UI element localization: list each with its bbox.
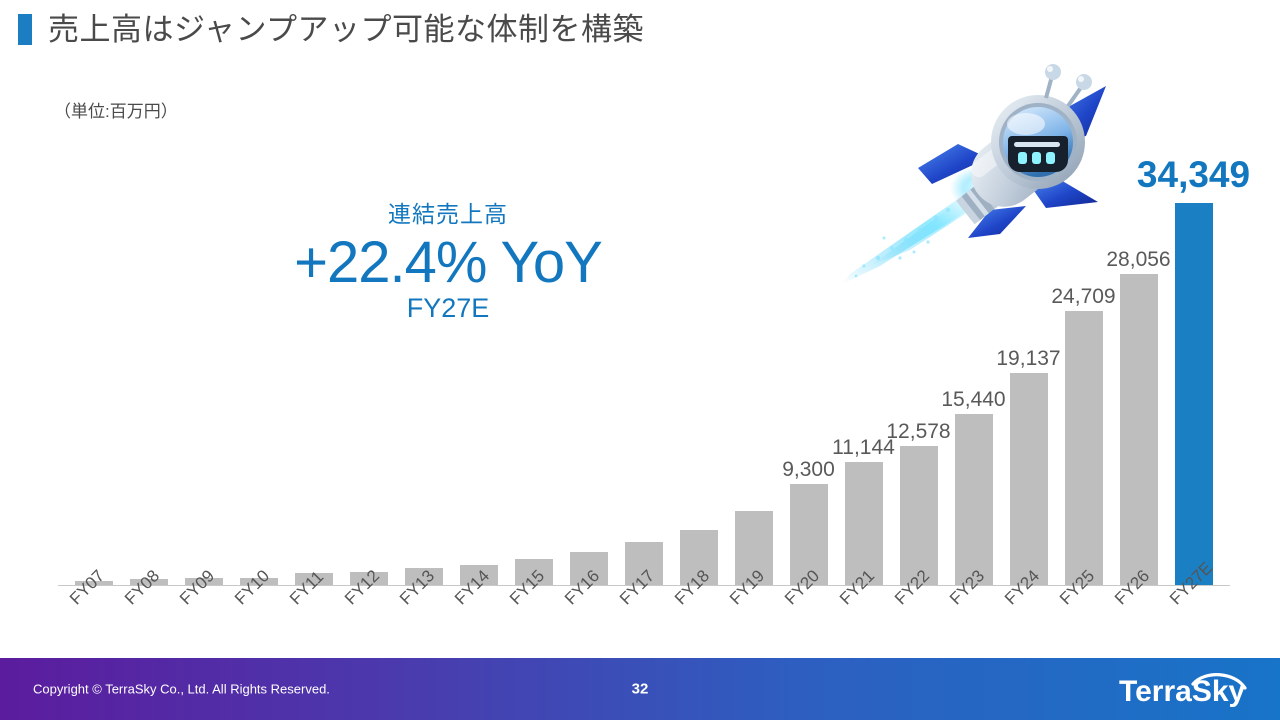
- tick-slot-fy23: FY23: [946, 587, 1001, 647]
- bar-fy25[interactable]: [1065, 311, 1103, 585]
- bar-value-label-fy26: 28,056: [1106, 249, 1170, 270]
- tick-slot-fy17: FY17: [616, 587, 671, 647]
- bar-slot-fy17: [616, 149, 671, 585]
- bar-slot-fy07: [66, 149, 121, 585]
- tick-slot-fy14: FY14: [451, 587, 506, 647]
- tick-slot-fy19: FY19: [726, 587, 781, 647]
- tick-slot-fy13: FY13: [396, 587, 451, 647]
- bar-slot-fy14: [451, 149, 506, 585]
- tick-slot-fy20: FY20: [781, 587, 836, 647]
- bar-fy26[interactable]: [1120, 274, 1158, 585]
- tick-slot-fy16: FY16: [561, 587, 616, 647]
- bar-slot-fy27e: 34,349: [1166, 149, 1221, 585]
- bar-slot-fy08: [121, 149, 176, 585]
- bar-slot-fy10: [231, 149, 286, 585]
- title-text: 売上高はジャンプアップ可能な体制を構築: [48, 14, 644, 45]
- bar-value-label-fy24: 19,137: [996, 348, 1060, 369]
- bar-slot-fy25: 24,709: [1056, 149, 1111, 585]
- bar-fy22[interactable]: [900, 446, 938, 585]
- chart-plot-area: 9,30011,14412,57815,44019,13724,70928,05…: [58, 150, 1230, 586]
- slide: 売上高はジャンプアップ可能な体制を構築 （単位:百万円） 連結売上高 +22.4…: [0, 0, 1280, 720]
- bar-value-label-fy22: 12,578: [886, 421, 950, 442]
- page-title: 売上高はジャンプアップ可能な体制を構築: [18, 14, 644, 45]
- bar-fy24[interactable]: [1010, 373, 1048, 585]
- bar-slot-fy11: [286, 149, 341, 585]
- bar-fy23[interactable]: [955, 414, 993, 585]
- bar-slot-fy16: [561, 149, 616, 585]
- svg-text:TerraSky: TerraSky: [1119, 675, 1246, 708]
- tick-slot-fy22: FY22: [891, 587, 946, 647]
- bar-slot-fy13: [396, 149, 451, 585]
- tick-slot-fy11: FY11: [286, 587, 341, 647]
- tick-slot-fy10: FY10: [231, 587, 286, 647]
- bar-slot-fy15: [506, 149, 561, 585]
- tick-slot-fy26: FY26: [1111, 587, 1166, 647]
- page-number: 32: [0, 681, 1280, 698]
- bar-slot-fy26: 28,056: [1111, 149, 1166, 585]
- tick-slot-fy15: FY15: [506, 587, 561, 647]
- bar-slot-fy22: 12,578: [891, 149, 946, 585]
- bar-slot-fy23: 15,440: [946, 149, 1001, 585]
- tick-slot-fy18: FY18: [671, 587, 726, 647]
- tick-slot-fy21: FY21: [836, 587, 891, 647]
- tick-slot-fy12: FY12: [341, 587, 396, 647]
- bar-slot-fy09: [176, 149, 231, 585]
- slide-footer: Copyright © TerraSky Co., Ltd. All Right…: [0, 658, 1280, 720]
- bar-value-label-fy25: 24,709: [1051, 286, 1115, 307]
- bar-slot-fy20: 9,300: [781, 149, 836, 585]
- bar-value-label-fy23: 15,440: [941, 389, 1005, 410]
- bar-slot-fy12: [341, 149, 396, 585]
- bar-fy27e[interactable]: [1175, 203, 1213, 585]
- bar-slot-fy21: 11,144: [836, 149, 891, 585]
- tick-slot-fy08: FY08: [121, 587, 176, 647]
- bar-slot-fy18: [671, 149, 726, 585]
- tick-slot-fy09: FY09: [176, 587, 231, 647]
- title-accent-bar: [18, 14, 32, 45]
- tick-slot-fy25: FY25: [1056, 587, 1111, 647]
- x-axis-tick-labels: FY07FY08FY09FY10FY11FY12FY13FY14FY15FY16…: [58, 587, 1230, 647]
- tick-slot-fy07: FY07: [66, 587, 121, 647]
- bar-value-label-fy20: 9,300: [782, 459, 835, 480]
- bar-value-label-fy27e: 34,349: [1137, 156, 1250, 193]
- tick-slot-fy27e: FY27E: [1166, 587, 1221, 647]
- bar-slot-fy19: [726, 149, 781, 585]
- unit-note: （単位:百万円）: [54, 97, 178, 122]
- revenue-bar-chart: 9,30011,14412,57815,44019,13724,70928,05…: [58, 150, 1230, 586]
- bar-slot-fy24: 19,137: [1001, 149, 1056, 585]
- tick-slot-fy24: FY24: [1001, 587, 1056, 647]
- terrasky-logo: TerraSky: [1119, 668, 1254, 710]
